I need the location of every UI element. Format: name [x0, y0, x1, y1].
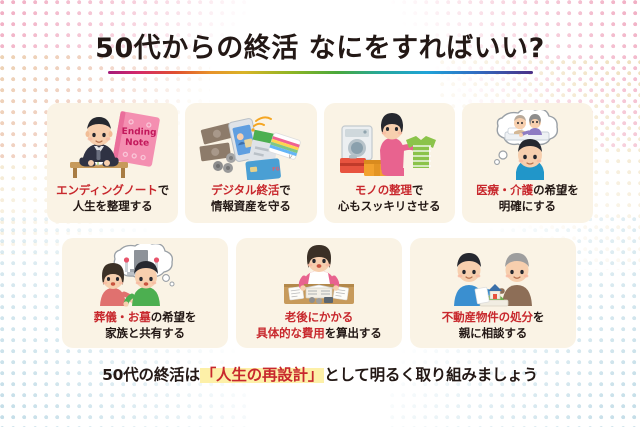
svg-text:FG: FG [272, 166, 280, 173]
card-label-rest: の希望を [533, 183, 579, 197]
card-label-rest-2: を算出する [325, 326, 382, 340]
card-label: 医療・介護の希望を 明確にする [476, 183, 579, 214]
card-label-rest-2: 家族と共有する [105, 326, 185, 340]
card-label-rest: で [412, 183, 423, 197]
card-label: 葬儀・お墓の希望を 家族と共有する [94, 310, 197, 341]
card-label-highlight: モノの整理 [355, 183, 412, 197]
smartphone-cards-cash-icon: V FG [196, 109, 306, 181]
card-label-highlight: 葬儀・お墓 [94, 310, 151, 324]
woman-calculating-expenses-icon [262, 244, 377, 308]
card-label-rest: で [158, 183, 169, 197]
footer-prefix: 50代の終活は [102, 366, 200, 384]
card-label-highlight: 老後にかかる [285, 310, 353, 324]
card-medical-care-wishes[interactable]: 医療・介護の希望を 明確にする [462, 103, 593, 223]
card-real-estate-disposal[interactable]: 不動産物件の処分を 親に相談する [410, 238, 576, 348]
card-label: エンディングノートで 人生を整理する [56, 183, 169, 214]
card-funeral-grave-wishes[interactable]: 葬儀・お墓の希望を 家族と共有する [62, 238, 228, 348]
card-label-rest-2: 情報資産を守る [211, 199, 291, 213]
card-label-rest-2: 明確にする [499, 199, 556, 213]
page-title: 50代からの終活 なにをすればいい? [0, 34, 640, 64]
card-label-rest: で [279, 183, 290, 197]
card-declutter-belongings[interactable]: モノの整理で 心もスッキリさせる [324, 103, 455, 223]
card-row-top: Ending Note [47, 103, 593, 223]
card-label-highlight: エンディングノート [56, 183, 158, 197]
title-block: 50代からの終活 なにをすればいい? [0, 34, 640, 74]
svg-text:Note: Note [125, 138, 149, 149]
card-label-rest: を [533, 310, 544, 324]
footer-message: 50代の終活は「人生の再設計」として明るく取り組みましょう [0, 363, 640, 385]
svg-text:Ending: Ending [121, 127, 156, 138]
card-label-highlight: 不動産物件の処分 [442, 310, 533, 324]
card-label: モノの整理で 心もスッキリさせる [338, 183, 441, 214]
card-digital-shukatsu[interactable]: V FG デジタル終活で 情報資産を守る [185, 103, 316, 223]
card-label-highlight: 医療・介護 [476, 183, 533, 197]
card-retirement-cost-calculation[interactable]: 老後にかかる 具体的な費用を算出する [236, 238, 402, 348]
footer-suffix: として明るく取り組みましょう [324, 366, 538, 384]
title-gradient-underline [108, 71, 533, 74]
card-label-rest-2: 心もスッキリさせる [338, 199, 441, 213]
card-label-rest-2: 親に相談する [459, 326, 527, 340]
card-label: デジタル終活で 情報資産を守る [211, 183, 291, 214]
card-ending-note[interactable]: Ending Note [47, 103, 178, 223]
infographic-poster: 50代からの終活 なにをすればいい? Ending Note [0, 0, 640, 427]
card-label-highlight: デジタル終活 [211, 183, 279, 197]
card-label-highlight-2: 具体的な費用 [256, 326, 324, 340]
man-writing-ending-note-icon: Ending Note [58, 109, 168, 181]
card-label-rest-2: 人生を整理する [73, 199, 153, 213]
couple-discussing-grave-icon [88, 244, 203, 308]
man-thinking-about-nursing-care-icon [472, 109, 582, 181]
footer-marker-phrase: 「人生の再設計」 [200, 366, 324, 384]
son-consulting-parent-about-property-icon [436, 244, 551, 308]
card-row-bottom: 葬儀・お墓の希望を 家族と共有する [62, 238, 578, 348]
card-label-rest: の希望を [151, 310, 197, 324]
card-label: 不動産物件の処分を 親に相談する [442, 310, 545, 341]
card-label: 老後にかかる 具体的な費用を算出する [256, 310, 381, 341]
woman-sorting-belongings-icon [334, 109, 444, 181]
